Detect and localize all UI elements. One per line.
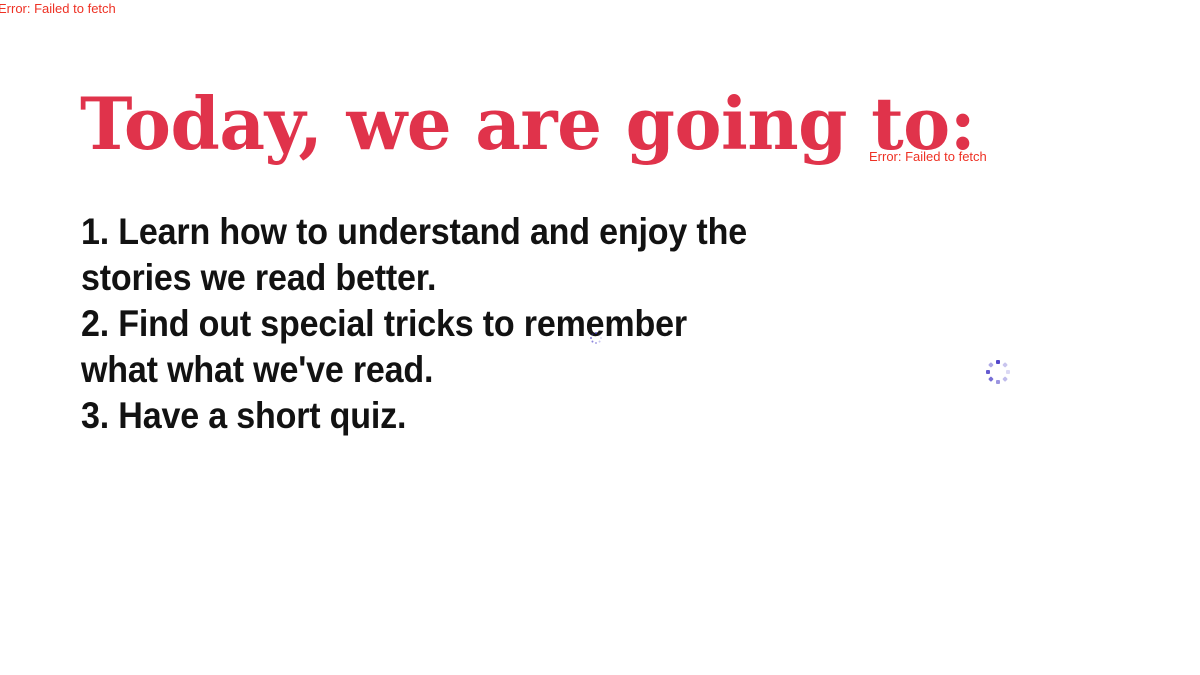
slide-heading: Today, we are going to: xyxy=(80,82,975,166)
list-item: 3. Have a short quiz. xyxy=(81,393,762,439)
list-item: 2. Find out special tricks to remember w… xyxy=(81,301,762,393)
loading-spinner-icon xyxy=(986,360,1010,384)
slide-canvas: Error: Failed to fetch Today, we are goi… xyxy=(0,0,1200,675)
error-message-beside-heading: Error: Failed to fetch xyxy=(869,149,987,164)
loading-spinner-icon xyxy=(590,332,602,344)
objectives-list: 1. Learn how to understand and enjoy the… xyxy=(81,209,821,439)
list-item: 1. Learn how to understand and enjoy the… xyxy=(81,209,762,301)
error-message-top-left: Error: Failed to fetch xyxy=(0,1,116,16)
